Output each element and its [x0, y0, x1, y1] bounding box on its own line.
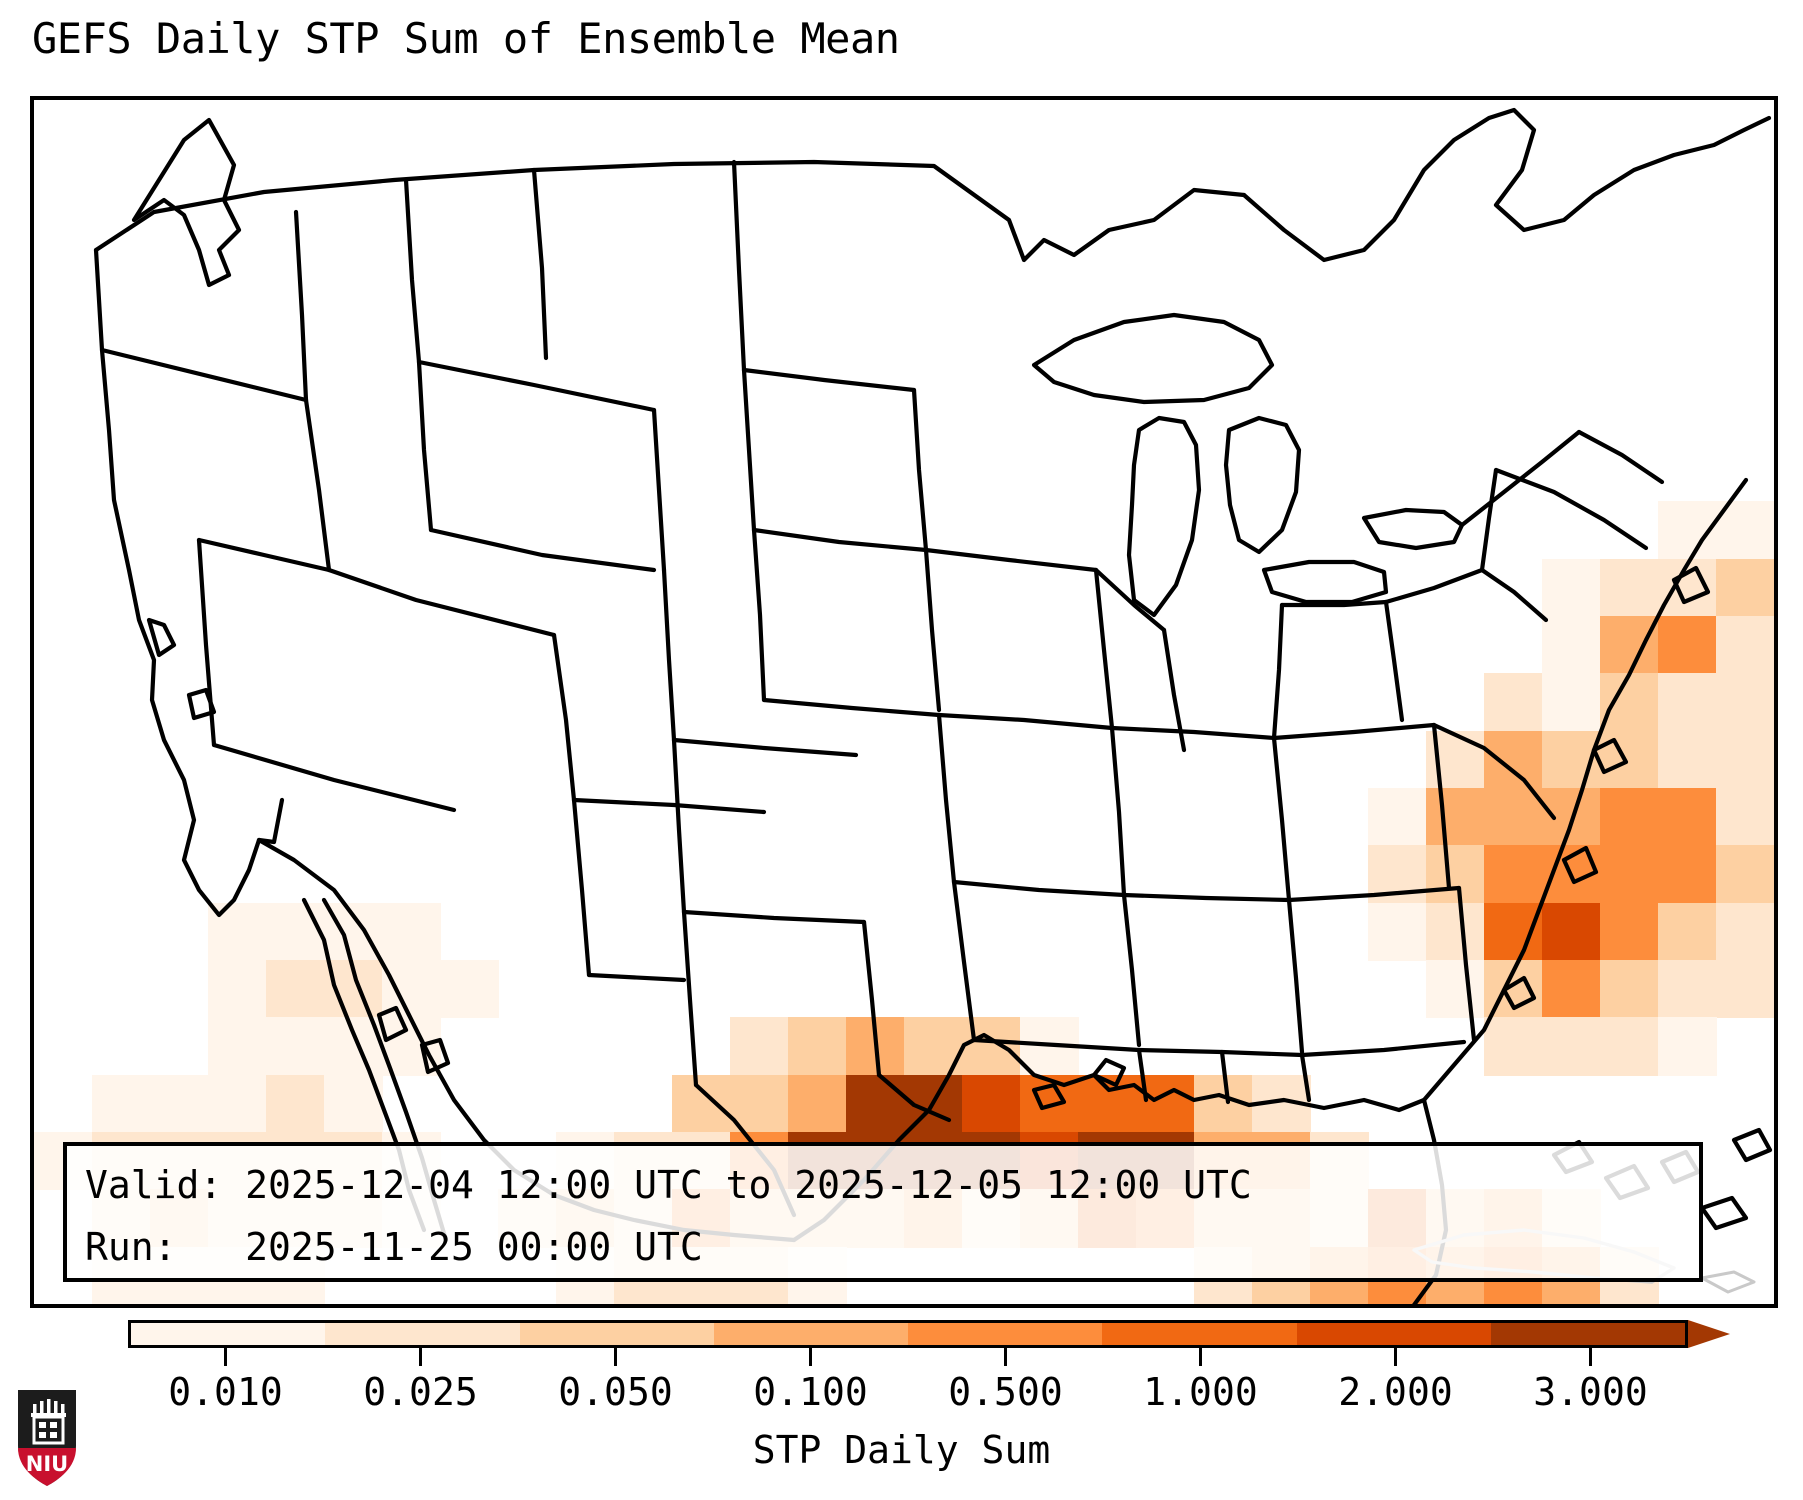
colorbar-tick-label-3: 0.100	[753, 1370, 867, 1414]
colorbar-segment-1	[325, 1323, 519, 1345]
colorbar-tick-2	[614, 1348, 617, 1366]
colorbar-segment-7	[1491, 1323, 1685, 1345]
colorbar-segment-4	[908, 1323, 1102, 1345]
niu-logo: NIU	[16, 1388, 78, 1488]
colorbar: STP Daily Sum 0.0100.0250.0500.1000.5001…	[0, 1308, 1803, 1500]
info-box: Valid: 2025-12-04 12:00 UTC to 2025-12-0…	[63, 1142, 1703, 1282]
colorbar-tick-label-0: 0.010	[168, 1370, 282, 1414]
colorbar-band	[128, 1320, 1688, 1348]
colorbar-segment-3	[714, 1323, 908, 1345]
colorbar-segment-2	[520, 1323, 714, 1345]
colorbar-tick-label-5: 1.000	[1143, 1370, 1257, 1414]
colorbar-tick-label-2: 0.050	[558, 1370, 672, 1414]
colorbar-tick-label-1: 0.025	[363, 1370, 477, 1414]
map-panel	[30, 96, 1778, 1308]
map-geography	[34, 100, 1774, 1304]
colorbar-segment-0	[131, 1323, 325, 1345]
colorbar-tick-label-4: 0.500	[948, 1370, 1062, 1414]
colorbar-tick-label-6: 2.000	[1338, 1370, 1452, 1414]
run-time-line: Run: 2025-11-25 00:00 UTC	[85, 1216, 1681, 1278]
colorbar-tick-3	[809, 1348, 812, 1366]
colorbar-tick-label-7: 3.000	[1533, 1370, 1647, 1414]
colorbar-segment-6	[1297, 1323, 1491, 1345]
colorbar-segment-5	[1102, 1323, 1296, 1345]
valid-time-line: Valid: 2025-12-04 12:00 UTC to 2025-12-0…	[85, 1154, 1681, 1216]
colorbar-tick-6	[1394, 1348, 1397, 1366]
colorbar-tick-7	[1589, 1348, 1592, 1366]
colorbar-tick-4	[1004, 1348, 1007, 1366]
colorbar-tick-1	[419, 1348, 422, 1366]
colorbar-extend-max-icon	[1688, 1320, 1730, 1348]
colorbar-axis-label: STP Daily Sum	[0, 1428, 1803, 1472]
page-title: GEFS Daily STP Sum of Ensemble Mean	[32, 14, 1772, 63]
colorbar-tick-5	[1199, 1348, 1202, 1366]
niu-logo-text: NIU	[26, 1452, 68, 1476]
colorbar-tick-0	[224, 1348, 227, 1366]
colorbar-extend-min-icon	[65, 1320, 128, 1348]
